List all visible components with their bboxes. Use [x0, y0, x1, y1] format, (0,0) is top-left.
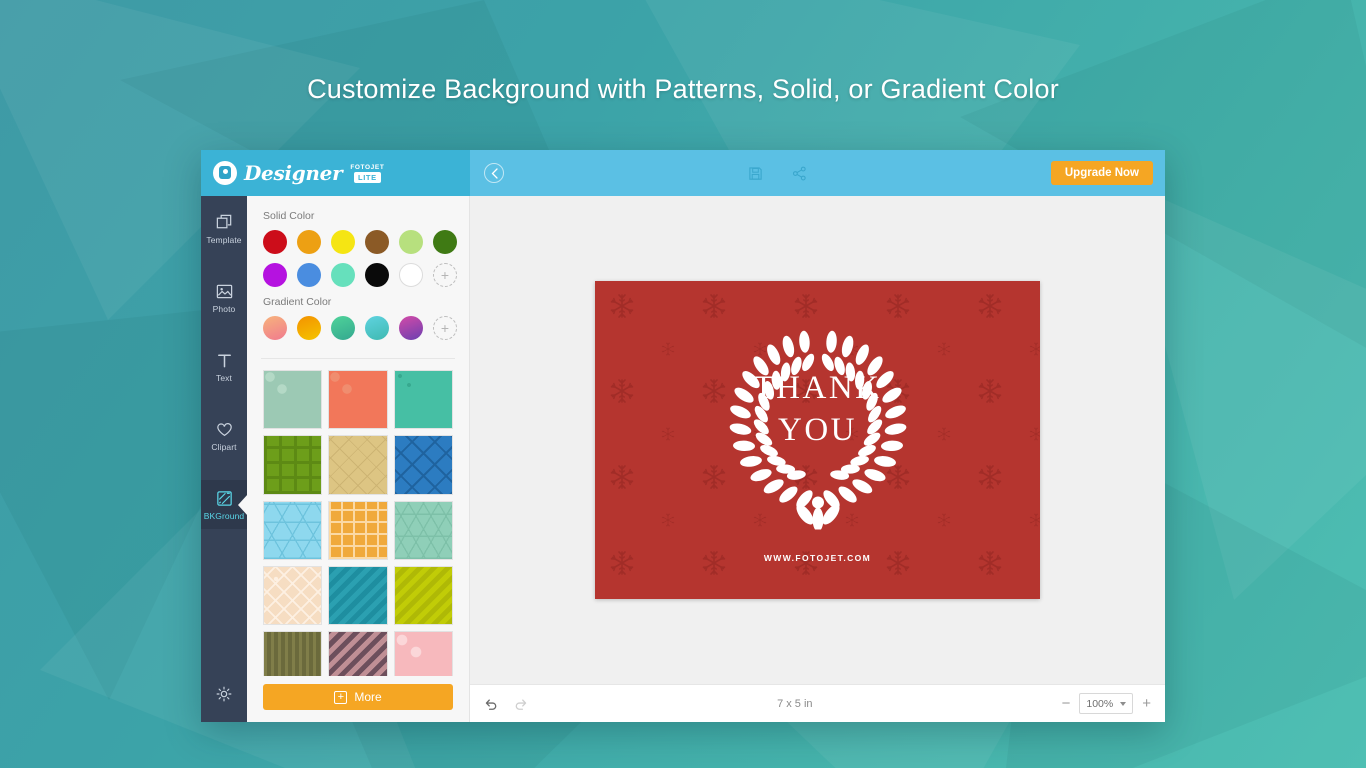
share-icon	[792, 166, 807, 181]
text-icon	[215, 351, 234, 370]
undo-icon	[484, 696, 499, 711]
chevron-down-icon	[1120, 702, 1126, 706]
logo-wordmark: Designer	[244, 161, 342, 185]
card-title[interactable]: THANK YOU	[595, 367, 1040, 451]
pattern-tile-cream-ornament[interactable]	[263, 566, 322, 625]
chevron-left-icon	[491, 168, 498, 179]
fotojet-designer-window: Designer FOTOJET LITE	[201, 150, 1165, 722]
solid-color-swatch-9[interactable]	[365, 263, 389, 287]
settings-button[interactable]	[215, 685, 233, 708]
pattern-tile-mauve-stripes[interactable]	[328, 631, 387, 676]
sidebar-item-label: Template	[206, 235, 241, 245]
solid-color-title: Solid Color	[263, 210, 453, 222]
solid-color-swatch-8[interactable]	[331, 263, 355, 287]
gradient-color-swatch-3[interactable]	[365, 316, 389, 340]
share-button[interactable]	[786, 160, 812, 186]
sidebar-item-template[interactable]: Template	[201, 204, 247, 253]
logo-edition-badge: FOTOJET LITE	[350, 164, 384, 183]
redo-button[interactable]	[513, 696, 528, 711]
action-bar: Upgrade Now	[470, 150, 1165, 196]
pattern-tile-green-plaid[interactable]	[263, 435, 322, 494]
color-section: Solid Color + Gradient Color +	[247, 196, 469, 349]
pattern-tile-sage-dots[interactable]	[263, 370, 322, 429]
sidebar-item-clipart[interactable]: Clipart	[201, 411, 247, 460]
app-logo[interactable]: Designer FOTOJET LITE	[201, 150, 470, 196]
sidebar: Template Photo Text	[201, 196, 247, 722]
card-title-line1: THANK	[595, 367, 1040, 409]
pattern-tile-sky-triangles[interactable]	[263, 501, 322, 560]
sidebar-item-label: Clipart	[211, 442, 236, 452]
sidebar-item-label: Text	[216, 373, 232, 383]
solid-color-swatch-5[interactable]	[433, 230, 457, 254]
zoom-level-value: 100%	[1086, 698, 1113, 710]
solid-color-row-2: +	[263, 263, 453, 287]
zoom-level-select[interactable]: 100%	[1079, 693, 1133, 714]
zoom-out-button[interactable]: −	[1062, 696, 1071, 711]
card-url-text[interactable]: WWW.FOTOJET.COM	[595, 553, 1040, 563]
gradient-color-row: +	[263, 316, 453, 340]
gradient-color-swatch-4[interactable]	[399, 316, 423, 340]
solid-color-swatch-4[interactable]	[399, 230, 423, 254]
add-color-icon[interactable]: +	[433, 263, 457, 287]
pattern-icon	[215, 489, 234, 508]
solid-color-swatch-3[interactable]	[365, 230, 389, 254]
solid-color-row-1	[263, 230, 453, 254]
pattern-tile-mint-hex[interactable]	[394, 501, 453, 560]
sidebar-item-text[interactable]: Text	[201, 342, 247, 391]
screen: Customize Background with Patterns, Soli…	[0, 0, 1366, 768]
solid-color-swatch-2[interactable]	[331, 230, 355, 254]
solid-color-swatch-1[interactable]	[297, 230, 321, 254]
gradient-color-title: Gradient Color	[263, 296, 453, 308]
sidebar-item-label: BKGround	[204, 511, 245, 521]
layers-icon	[215, 213, 234, 232]
gradient-color-swatch-0[interactable]	[263, 316, 287, 340]
zoom-in-button[interactable]: +	[1142, 696, 1151, 711]
pattern-tile-pink-hearts[interactable]	[394, 631, 453, 676]
canvas-area[interactable]: THANK YOU WWW.FOTOJET.COM	[470, 196, 1165, 684]
more-patterns-button[interactable]: + More	[263, 684, 453, 710]
back-button[interactable]	[484, 163, 504, 183]
sidebar-item-bkground[interactable]: BKGround	[201, 480, 247, 529]
pattern-tile-blue-crosshatch[interactable]	[394, 435, 453, 494]
undo-button[interactable]	[484, 696, 499, 711]
gradient-color-swatch-2[interactable]	[331, 316, 355, 340]
solid-color-swatch-0[interactable]	[263, 230, 287, 254]
pattern-tile-orange-grid[interactable]	[328, 501, 387, 560]
card-title-line2: YOU	[595, 409, 1040, 451]
add-gradient-icon[interactable]: +	[433, 316, 457, 340]
workspace: THANK YOU WWW.FOTOJET.COM	[470, 196, 1165, 722]
image-icon	[215, 282, 234, 301]
pattern-tile-tan-diamond[interactable]	[328, 435, 387, 494]
pattern-tile-teal-small-dots[interactable]	[394, 370, 453, 429]
solid-color-swatch-10[interactable]	[399, 263, 423, 287]
edition-label: LITE	[354, 172, 381, 183]
pattern-tile-olive-vstripes[interactable]	[263, 631, 322, 676]
solid-color-swatch-7[interactable]	[297, 263, 321, 287]
pattern-tile-teal-stripes[interactable]	[328, 566, 387, 625]
design-card[interactable]: THANK YOU WWW.FOTOJET.COM	[595, 281, 1040, 599]
plus-square-icon: +	[334, 691, 347, 704]
gradient-color-swatch-1[interactable]	[297, 316, 321, 340]
upgrade-now-button[interactable]: Upgrade Now	[1051, 161, 1153, 185]
canvas-dimensions: 7 x 5 in	[542, 698, 1048, 710]
save-icon	[748, 166, 763, 181]
sidebar-item-photo[interactable]: Photo	[201, 273, 247, 322]
brand-label: FOTOJET	[350, 164, 384, 171]
top-bar: Designer FOTOJET LITE	[201, 150, 1165, 196]
app-body: Template Photo Text	[201, 196, 1165, 722]
status-bar: 7 x 5 in − 100% +	[470, 684, 1165, 722]
zoom-controls: − 100% +	[1062, 693, 1151, 714]
gear-icon	[215, 685, 233, 703]
heart-icon	[215, 420, 234, 439]
fotojet-logo-icon	[213, 161, 237, 185]
solid-color-swatch-6[interactable]	[263, 263, 287, 287]
page-title: Customize Background with Patterns, Soli…	[0, 74, 1366, 105]
pattern-tile-lime-stripes[interactable]	[394, 566, 453, 625]
pattern-tile-coral-dots[interactable]	[328, 370, 387, 429]
more-button-label: More	[354, 690, 381, 704]
redo-icon	[513, 696, 528, 711]
sidebar-item-label: Photo	[213, 304, 236, 314]
panel-footer: + More	[247, 676, 469, 722]
save-button[interactable]	[742, 160, 768, 186]
background-panel: Solid Color + Gradient Color + + More	[247, 196, 470, 722]
pattern-grid	[247, 359, 469, 676]
